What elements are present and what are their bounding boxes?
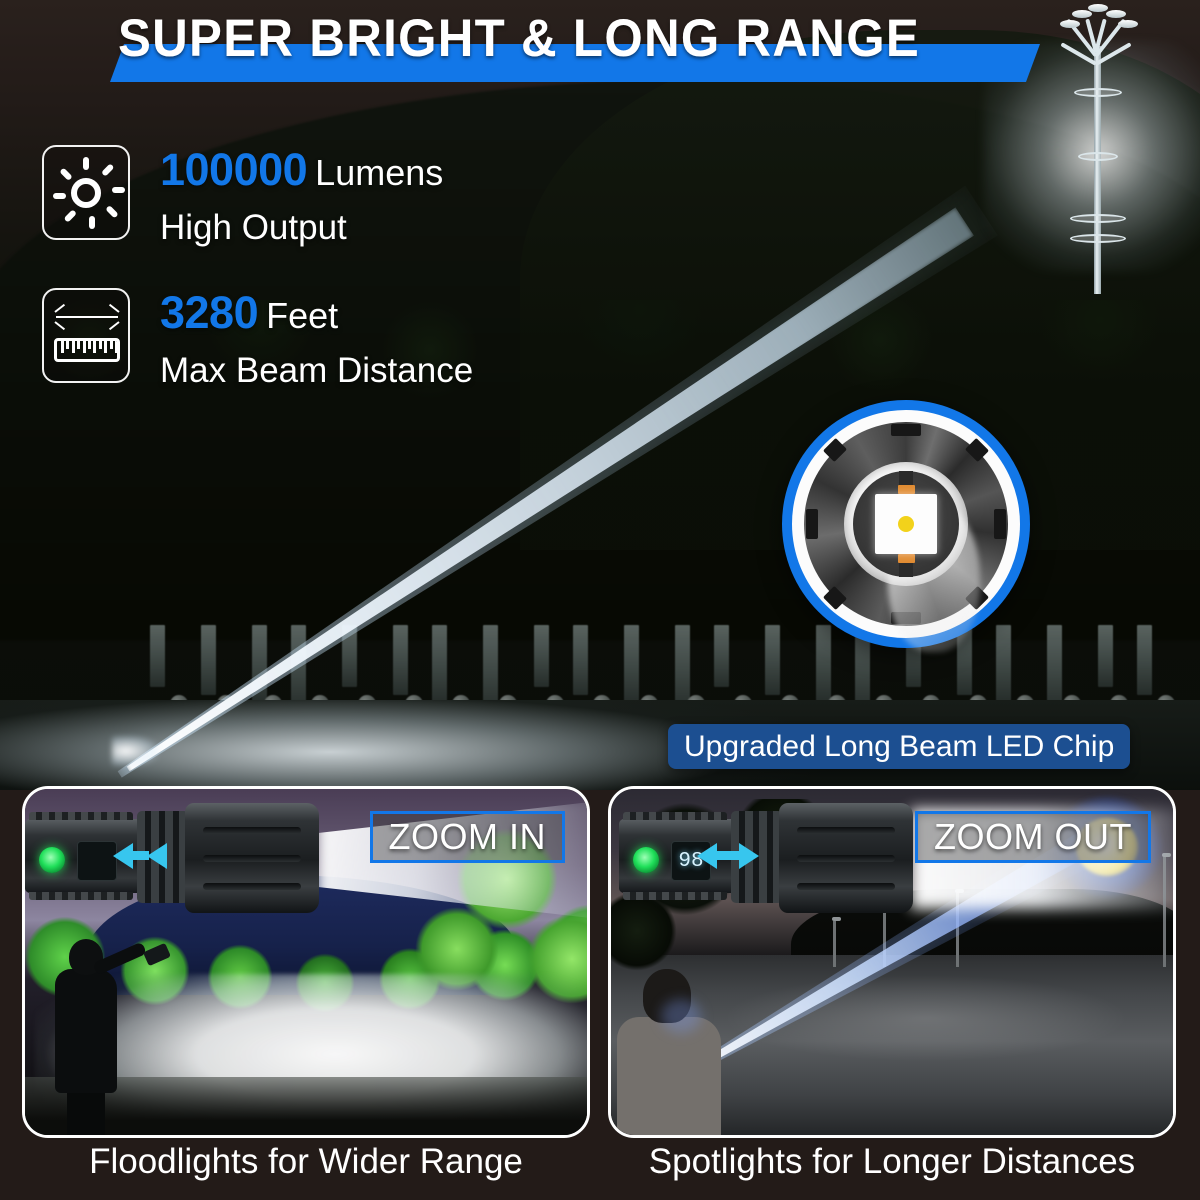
colonnade-pillar [201,625,216,695]
sun-ray [101,163,114,176]
person-silhouette [617,969,725,1138]
colonnade-pillar [534,625,549,687]
led-phosphor-dot [898,516,914,532]
colonnade-pillar [483,625,498,711]
colonnade-pillar [1137,625,1152,695]
sun-ray [53,193,66,199]
ruler-tick [72,341,75,353]
beam-origin-flare [112,736,158,766]
page-title: SUPER BRIGHT & LONG RANGE [36,8,1001,70]
double-arrow-icon [56,316,118,318]
sun-ray [89,216,95,229]
flashlight-display [77,841,117,881]
lamp-head [1106,10,1126,18]
bezel-notch [994,509,1006,539]
lumens-unit: Lumens [315,152,443,193]
spec-row-lumens: 100000Lumens High Output [42,145,443,250]
led-emitter [875,494,937,554]
distance-sublabel: Max Beam Distance [160,349,473,393]
ruler-tick [104,341,107,353]
sun-ray [83,157,89,170]
zoom-out-tag: ZOOM OUT [915,811,1151,863]
colonnade-pillar [765,625,780,695]
lamp-ring [1070,234,1126,243]
lamp-head [1072,10,1092,18]
zoom-out-caption: Spotlights for Longer Distances [608,1142,1176,1182]
lamp-pole [1094,46,1101,294]
lamp-post-target [1042,2,1154,294]
lamp-ring [1074,88,1122,97]
sun-ray [112,187,125,193]
flashlight-head [779,803,913,913]
lamp-ring [1078,152,1118,161]
lamp-head [1088,4,1108,12]
colonnade-pillar [816,625,831,703]
spec-headline-lumens: 100000Lumens [160,145,443,206]
colonnade-pillar [1098,625,1113,687]
zoom-in-caption: Floodlights for Wider Range [22,1142,590,1182]
spec-text-lumens: 100000Lumens High Output [160,145,443,250]
led-chip-label: Upgraded Long Beam LED Chip [668,724,1130,769]
zoom-out-panel[interactable]: 98 ZOOM OUT [608,786,1176,1138]
sun-ray [105,205,118,218]
sun-ray [64,209,77,222]
lamp-ring [1070,214,1126,223]
ruler-tick [115,341,118,353]
spec-text-distance: 3280Feet Max Beam Distance [160,288,473,393]
ruler-tick [61,341,64,353]
distance-value: 3280 [160,287,258,338]
street-lamp [833,921,836,967]
sun-ray [59,167,72,180]
ruler-icon [54,338,120,362]
colonnade-pillar [573,625,588,695]
ruler-tick [66,341,69,349]
green-power-button-icon[interactable] [39,847,65,873]
flashlight-head [185,803,319,913]
ruler-tick [110,341,113,349]
zoom-in-tag: ZOOM IN [370,811,565,863]
chip-metal-bezel [804,422,1008,626]
led-substrate [853,471,959,577]
ruler-tick [83,341,86,353]
chip-lens [844,462,968,586]
ruler-tick [99,341,102,349]
product-feature-image: SUPER BRIGHT & LONG RANGE 100000Lumens H… [0,0,1200,1200]
person-silhouette [53,939,127,1138]
colonnade-pillar [1047,625,1062,711]
lamp-head [1060,20,1080,28]
bezel-notch [806,509,818,539]
colonnade-pillar [432,625,447,703]
zoom-in-panel[interactable]: ZOOM IN [22,786,590,1138]
lumens-value: 100000 [160,144,307,195]
ruler-tick [77,341,80,349]
green-power-button-icon[interactable] [633,847,659,873]
lamp-head [1118,20,1138,28]
spec-headline-distance: 3280Feet [160,288,473,349]
brightness-sun-icon [42,145,130,240]
spec-row-distance: 3280Feet Max Beam Distance [42,288,473,393]
night-scene-background [0,0,1200,790]
colonnade-pillar [393,625,408,695]
ruler-tick [88,341,91,349]
bezel-notch [891,424,921,436]
distance-unit: Feet [266,295,338,336]
colonnade-pillar [150,625,165,687]
sun-core [71,178,101,208]
led-contact-top [898,485,915,494]
colonnade-pillar [714,625,729,687]
beam-distance-ruler-icon [42,288,130,383]
colonnade-pillar [996,625,1011,703]
ruler-tick [93,341,96,353]
led-contact-bottom [898,554,915,563]
colonnade-pillar [624,625,639,703]
lumens-sublabel: High Output [160,206,443,250]
led-chip-closeup [782,400,1030,648]
